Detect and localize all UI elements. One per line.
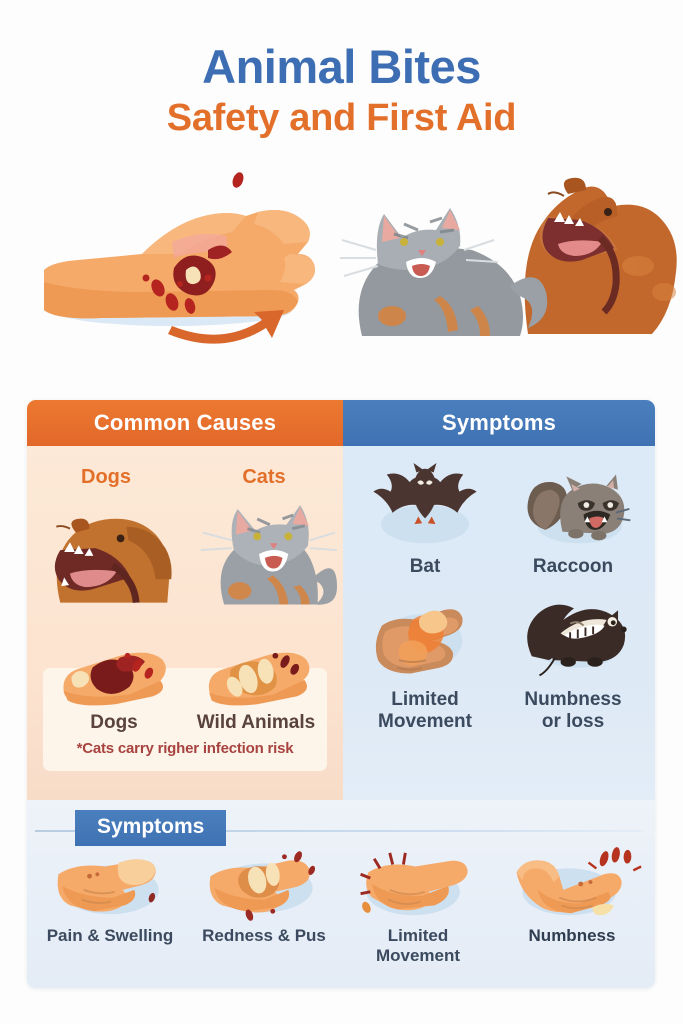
title-block: Animal Bites Safety and First Aid (0, 0, 683, 140)
bottom-symptom-limited-movement: Limited Movement (341, 846, 495, 965)
symptom-item-raccoon: Raccoon (499, 458, 647, 577)
wound-label-wild-animals: Wild Animals (185, 712, 327, 734)
symptom-label-line1: Limited (391, 689, 459, 710)
card-panels: Common Causes Dogs Cats (27, 400, 655, 800)
wound-summary-box: Dogs Wild Animals *Cats carry righer inf… (43, 668, 327, 771)
infection-risk-note: *Cats carry righer infection risk (43, 740, 327, 757)
symptom-item-bat: Bat (351, 458, 499, 577)
bottom-symptom-pain-swelling: Pain & Swelling (33, 846, 187, 965)
symptom-label-numbness-or-loss: Numbness or loss (499, 689, 647, 732)
symptoms-panel-header: Symptoms (343, 400, 655, 446)
dog-illustration (27, 495, 185, 607)
bat-icon (351, 458, 499, 554)
symptom-label-line1: Numbness (524, 689, 621, 710)
hand-limited-movement-icon (341, 846, 495, 922)
hand-numbness-icon (495, 846, 649, 922)
bottom-symptoms-header: Symptoms (27, 800, 655, 846)
symptoms-panel-row-1: Bat (351, 458, 647, 577)
symptom-item-limited-movement: Limited Movement (351, 591, 499, 732)
info-card: Common Causes Dogs Cats (27, 400, 655, 988)
bottom-symptom-label-pain-swelling: Pain & Swelling (33, 926, 187, 946)
bitten-hand-illustration (22, 150, 352, 350)
bottom-symptom-label-redness-pus: Redness & Pus (187, 926, 341, 946)
bottom-symptom-label-line1: Limited (388, 926, 448, 945)
common-causes-header: Common Causes (27, 400, 343, 446)
symptom-label-limited-movement: Limited Movement (351, 689, 499, 732)
bottom-symptoms-badge: Symptoms (75, 810, 226, 846)
wound-label-dogs: Dogs (43, 712, 185, 734)
bottom-symptom-numbness: Numbness (495, 846, 649, 965)
wild-animal-bite-wound-illustration (185, 642, 327, 714)
common-causes-panel: Common Causes Dogs Cats (27, 400, 343, 800)
symptoms-panel-header-label: Symptoms (442, 410, 556, 436)
raccoon-icon (499, 458, 647, 554)
symptoms-panel-grid: Bat (343, 446, 655, 732)
cat-and-dog-illustration (332, 146, 682, 346)
bottom-symptom-redness-pus: Redness & Pus (187, 846, 341, 965)
swollen-hand-icon (351, 591, 499, 687)
cat-illustration (185, 495, 343, 607)
symptom-item-numbness-or-loss: Numbness or loss (499, 591, 647, 732)
symptoms-panel-row-2: Limited Movement (351, 591, 647, 732)
hand-pain-swelling-icon (33, 846, 187, 922)
bottom-symptoms-row: Pain & Swelling (27, 846, 655, 965)
bottom-symptom-label-numbness: Numbness (495, 926, 649, 946)
wound-art-row (43, 642, 327, 714)
skunk-icon (499, 591, 647, 687)
bottom-symptom-label-line2: Movement (376, 946, 460, 965)
symptom-label-raccoon: Raccoon (499, 556, 647, 577)
bottom-symptom-label-limited-movement: Limited Movement (341, 926, 495, 965)
dog-bite-wound-illustration (43, 642, 185, 714)
animal-label-cats: Cats (185, 466, 343, 489)
wound-label-row: Dogs Wild Animals (43, 712, 327, 734)
bottom-symptoms-badge-label: Symptoms (97, 815, 204, 838)
symptom-label-bat: Bat (351, 556, 499, 577)
common-causes-animal-art (27, 495, 343, 607)
page-subtitle: Safety and First Aid (0, 97, 683, 141)
symptoms-panel: Symptoms (343, 400, 655, 800)
symptom-label-line2: Movement (378, 711, 472, 732)
common-causes-header-label: Common Causes (94, 410, 276, 436)
page-title: Animal Bites (0, 42, 683, 93)
infographic-poster: Animal Bites Safety and First Aid (0, 0, 683, 1024)
animal-label-dogs: Dogs (27, 466, 185, 489)
bottom-symptoms-section: Symptoms (27, 800, 655, 988)
symptom-label-line2: or loss (542, 711, 604, 732)
hero-illustration (0, 150, 683, 350)
common-causes-animal-labels: Dogs Cats (27, 466, 343, 489)
hand-redness-pus-icon (187, 846, 341, 922)
